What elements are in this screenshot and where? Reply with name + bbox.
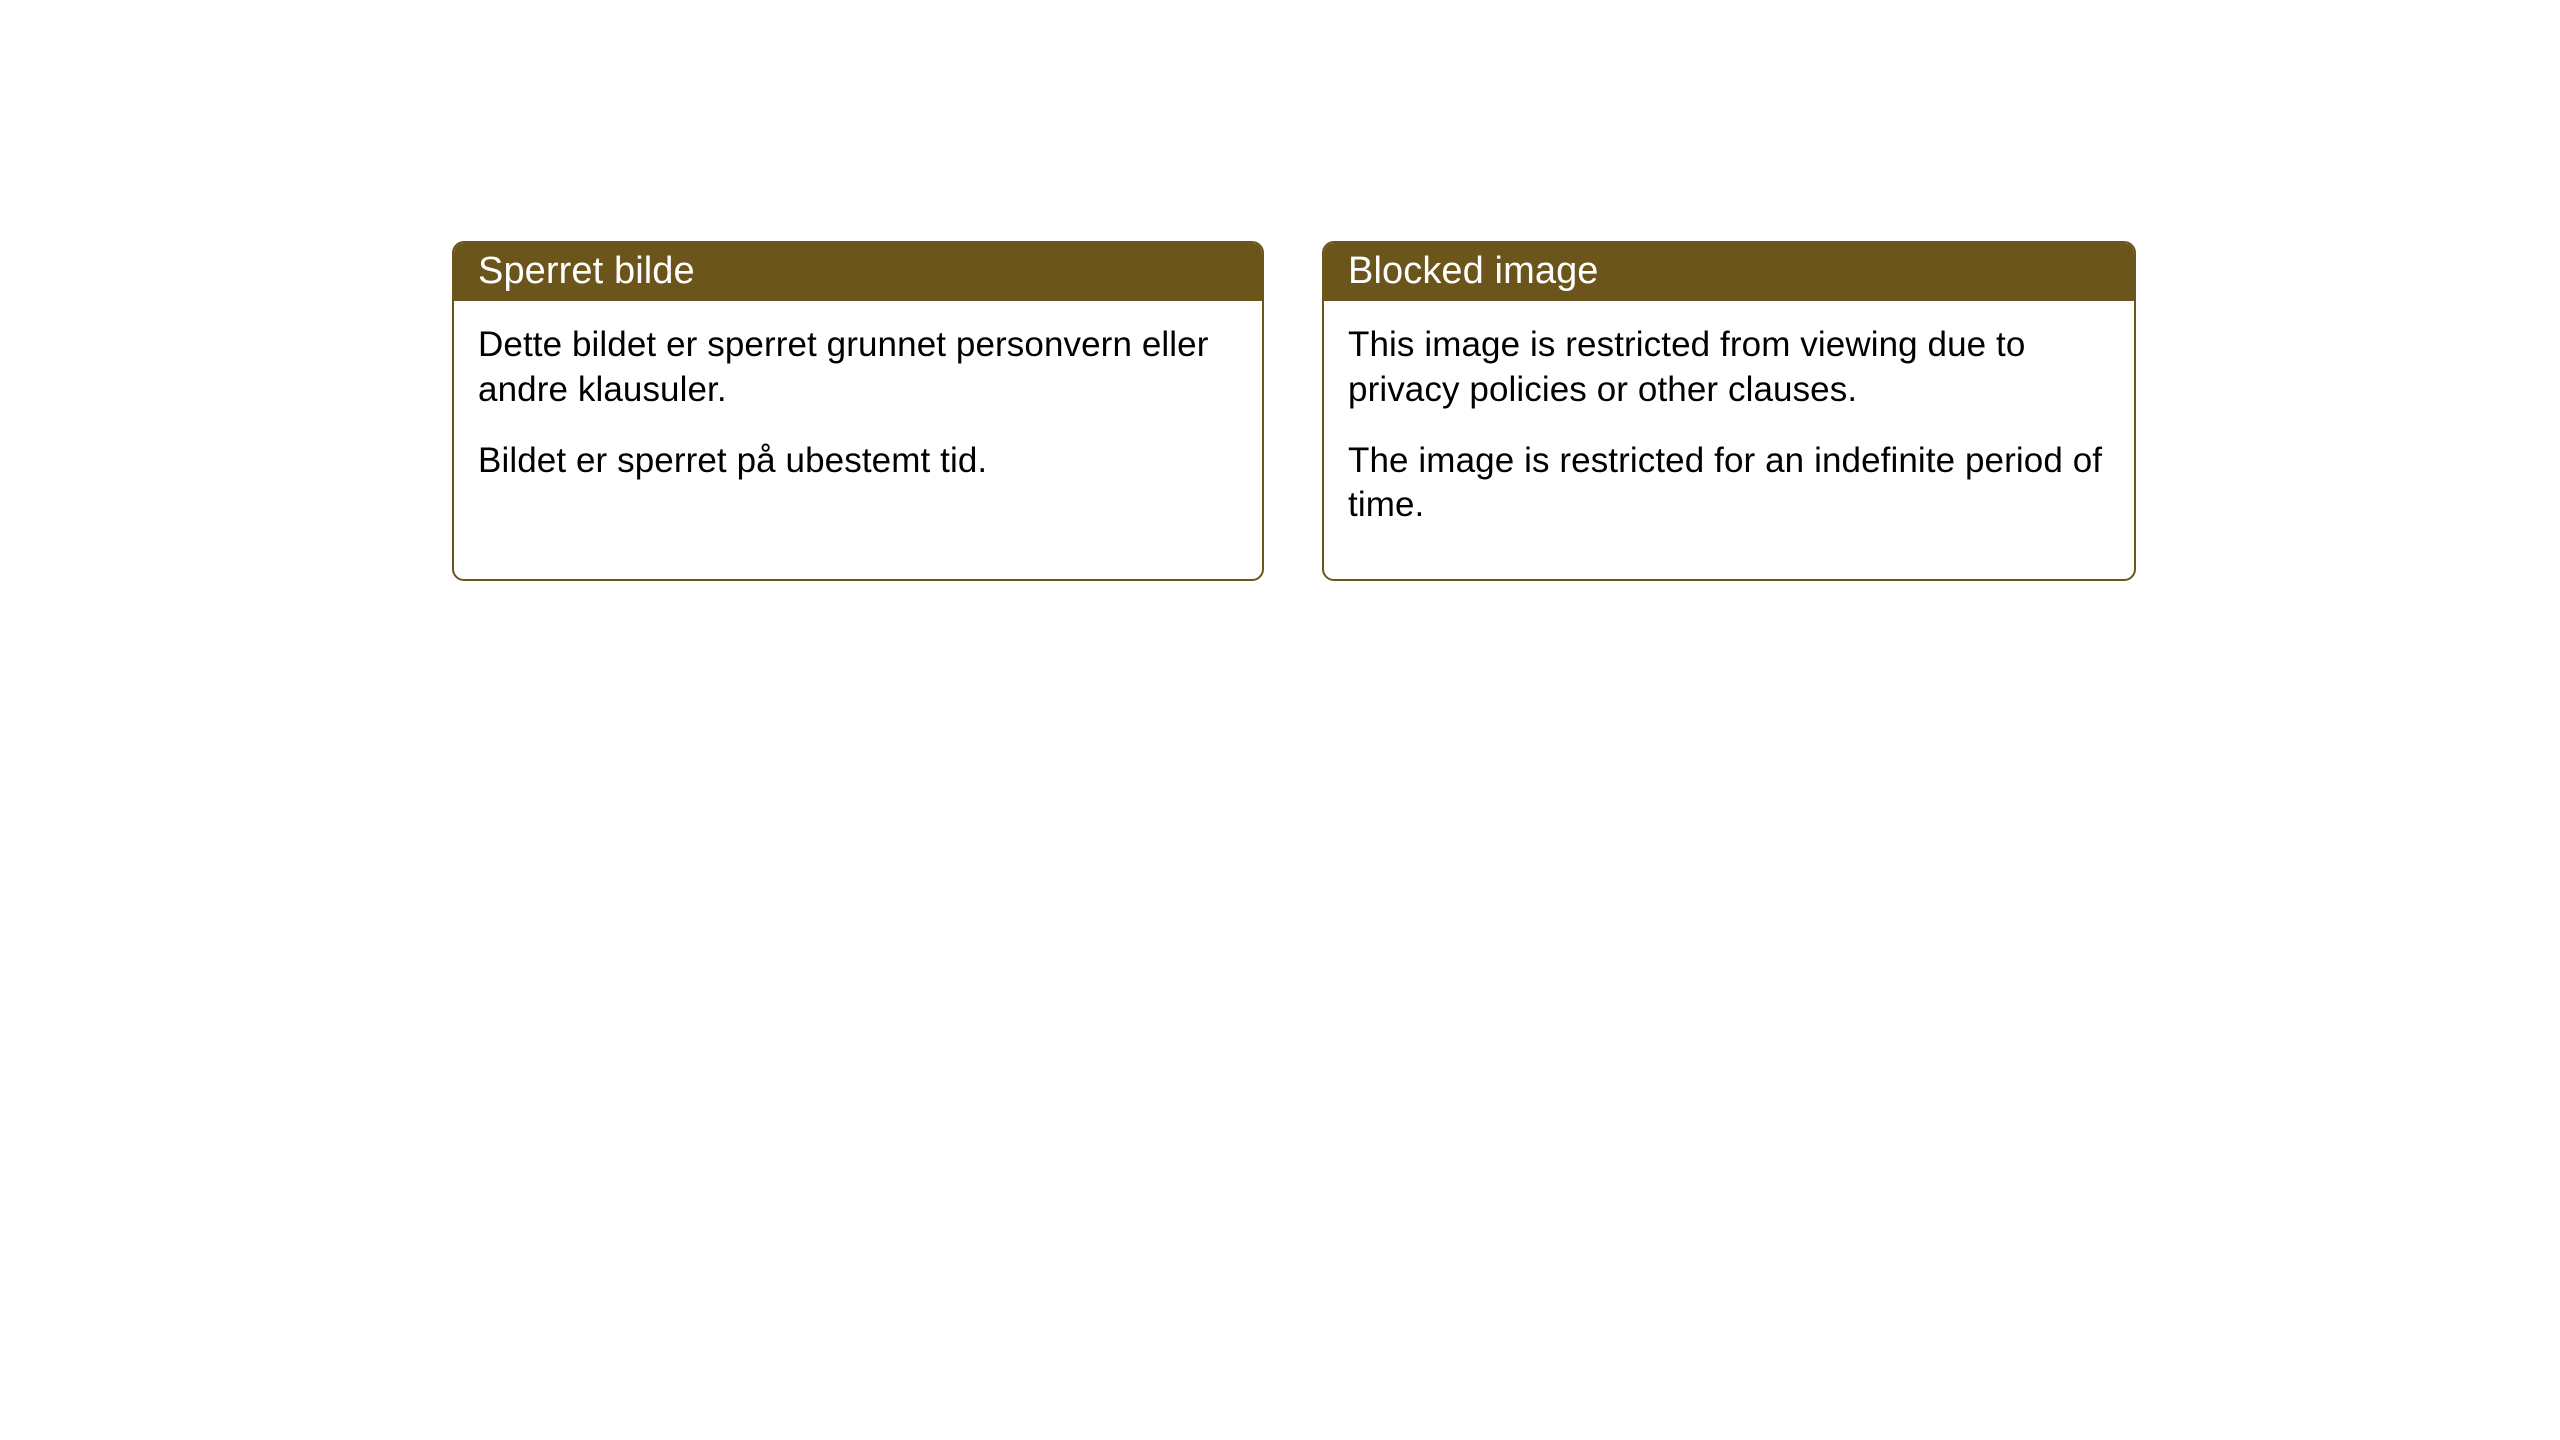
paragraph-spacer (1348, 413, 2110, 439)
page-canvas: Sperret bilde Dette bildet er sperret gr… (0, 0, 2560, 1440)
card-body: Dette bildet er sperret grunnet personve… (454, 301, 1262, 483)
card-header-bar: Blocked image (1322, 241, 2136, 301)
card-paragraph-primary: Dette bildet er sperret grunnet personve… (478, 323, 1238, 413)
card-title: Sperret bilde (478, 252, 695, 290)
card-paragraph-secondary: The image is restricted for an indefinit… (1348, 439, 2110, 529)
card-title: Blocked image (1348, 252, 1599, 290)
card-body: This image is restricted from viewing du… (1324, 301, 2134, 528)
card-paragraph-primary: This image is restricted from viewing du… (1348, 323, 2110, 413)
blocked-image-notice-card-english: Blocked image This image is restricted f… (1322, 241, 2136, 581)
paragraph-spacer (478, 413, 1238, 439)
blocked-image-notice-card-norwegian: Sperret bilde Dette bildet er sperret gr… (452, 241, 1264, 581)
card-header-bar: Sperret bilde (452, 241, 1264, 301)
card-paragraph-secondary: Bildet er sperret på ubestemt tid. (478, 439, 1238, 484)
